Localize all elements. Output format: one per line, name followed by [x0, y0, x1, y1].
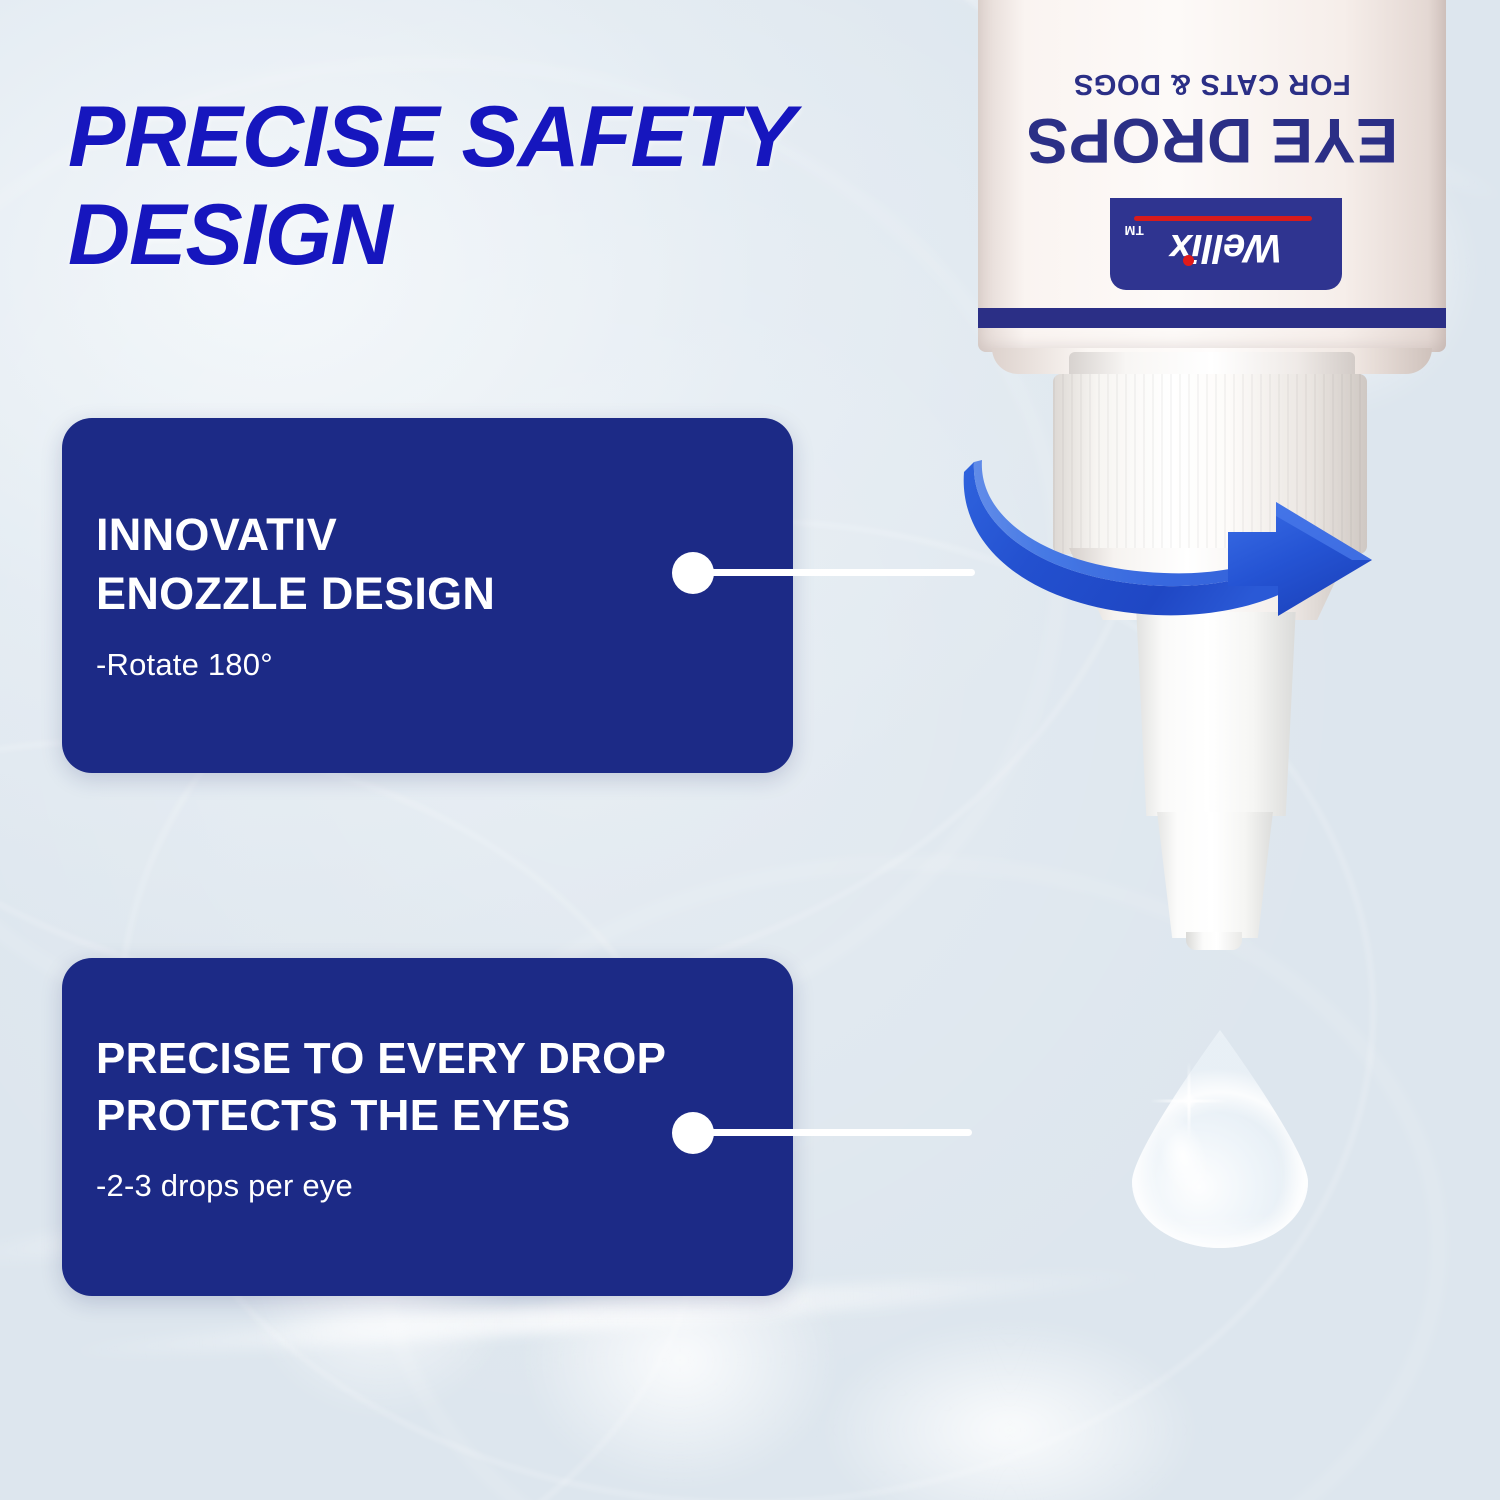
feature-card-nozzle-subtitle: -Rotate 180°	[96, 647, 759, 683]
logo-red-dot-icon	[1183, 255, 1194, 266]
bottle-body: Wellix TM EYE DROPS FOR CATS & DOGS	[978, 0, 1446, 352]
connector-line-nozzle	[700, 569, 975, 576]
label-product-name: EYE DROPS	[978, 104, 1446, 176]
feature-card-precision-title: PRECISE TO EVERY DROP PROTECTS THE EYES	[96, 958, 759, 1144]
page-title-line-1: PRECISE SAFETY	[68, 89, 795, 185]
logo-red-underline	[1134, 216, 1312, 221]
feature-card-precision-subtitle: -2-3 drops per eye	[96, 1168, 759, 1204]
product-bottle: Wellix TM EYE DROPS FOR CATS & DOGS	[978, 0, 1446, 360]
feature-card-nozzle-title: INNOVATIV ENOZZLE DESIGN	[96, 418, 759, 623]
nozzle-tip	[1186, 932, 1242, 950]
label-product-audience: FOR CATS & DOGS	[978, 67, 1446, 100]
brand-name: Wellix	[1110, 225, 1342, 270]
infographic-canvas: PRECISE SAFETY DESIGN Wellix TM EYE DROP…	[0, 0, 1500, 1500]
rotate-arrow-icon	[960, 410, 1380, 640]
sparkle-core	[1181, 1093, 1197, 1109]
label-navy-band	[978, 308, 1446, 328]
page-title-line-2: DESIGN	[68, 186, 988, 284]
trademark-mark: TM	[1124, 223, 1144, 238]
brand-logo-banner: Wellix TM	[1110, 198, 1342, 290]
page-title: PRECISE SAFETY DESIGN	[68, 88, 988, 284]
water-droplet	[1132, 1030, 1308, 1248]
connector-line-precision	[700, 1129, 972, 1136]
feature-card-nozzle[interactable]: INNOVATIV ENOZZLE DESIGN -Rotate 180°	[62, 418, 793, 773]
nozzle-lower-section	[1152, 812, 1278, 938]
sparkle-icon	[1150, 1062, 1228, 1140]
nozzle-upper-section	[1133, 612, 1299, 816]
bottle-label: Wellix TM EYE DROPS FOR CATS & DOGS	[978, 0, 1446, 352]
